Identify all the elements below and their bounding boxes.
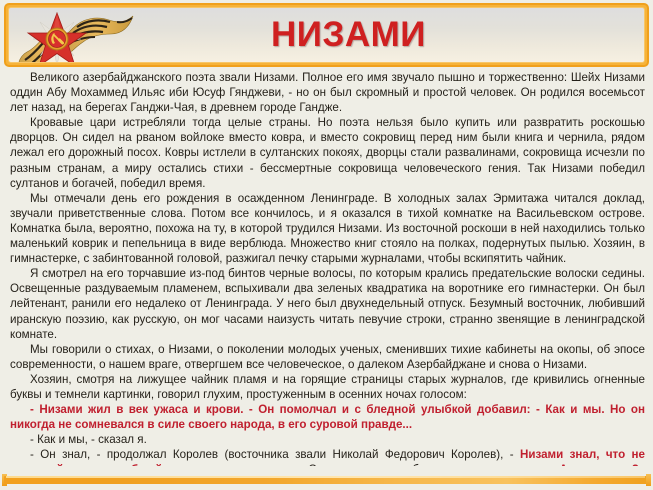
- bottom-bar-highlight: [6, 476, 645, 478]
- paragraph: Мы говорили о стихах, о Низами, о поколе…: [10, 342, 645, 372]
- paragraph-list: Великого азербайджанского поэта звали Ни…: [10, 70, 645, 466]
- accent-text-run: о сасанидском царе Ануширване?: [440, 463, 639, 466]
- slide-title-banner: НИЗАМИ: [4, 3, 649, 67]
- paragraph: Великого азербайджанского поэта звали Ни…: [10, 70, 645, 115]
- text-run: Хозяин, смотря на лижущее чайник пламя и…: [10, 373, 645, 401]
- bottom-bar-cap-right: [646, 474, 651, 486]
- bottom-decorative-bar: [0, 474, 653, 486]
- paragraph: Кровавые цари истребляли тогда целые стр…: [10, 115, 645, 190]
- paragraph: Я смотрел на его торчавшие из-под бинтов…: [10, 266, 645, 341]
- page-title: НИЗАМИ: [9, 8, 644, 62]
- accent-text-run: - Низами жил в век ужаса и крови. - Он п…: [10, 403, 645, 431]
- slide-title-banner-inner: НИЗАМИ: [8, 7, 645, 63]
- text-run: Я смотрел на его торчавшие из-под бинтов…: [10, 267, 645, 340]
- paragraph: - Как и мы, - сказал я.: [10, 432, 645, 447]
- paragraph: Хозяин, смотря на лижущее чайник пламя и…: [10, 372, 645, 402]
- text-run: Слыхали вы что-нибудь: [305, 463, 440, 466]
- paragraph: Мы отмечали день его рождения в осажденн…: [10, 191, 645, 266]
- text-run: Мы отмечали день его рождения в осажденн…: [10, 192, 645, 265]
- paragraph: - Низами жил в век ужаса и крови. - Он п…: [10, 402, 645, 432]
- paragraph: - Он знал, - продолжал Королев (восточни…: [10, 447, 645, 466]
- text-run: - Он знал, - продолжал Королев (восточни…: [30, 448, 520, 461]
- text-run: - Как и мы, - сказал я.: [30, 433, 147, 446]
- slide-body-text: Великого азербайджанского поэта звали Ни…: [0, 70, 653, 466]
- text-run: Кровавые цари истребляли тогда целые стр…: [10, 116, 645, 189]
- text-run: Мы говорили о стихах, о Низами, о поколе…: [10, 343, 645, 371]
- text-run: Великого азербайджанского поэта звали Ни…: [10, 71, 645, 114]
